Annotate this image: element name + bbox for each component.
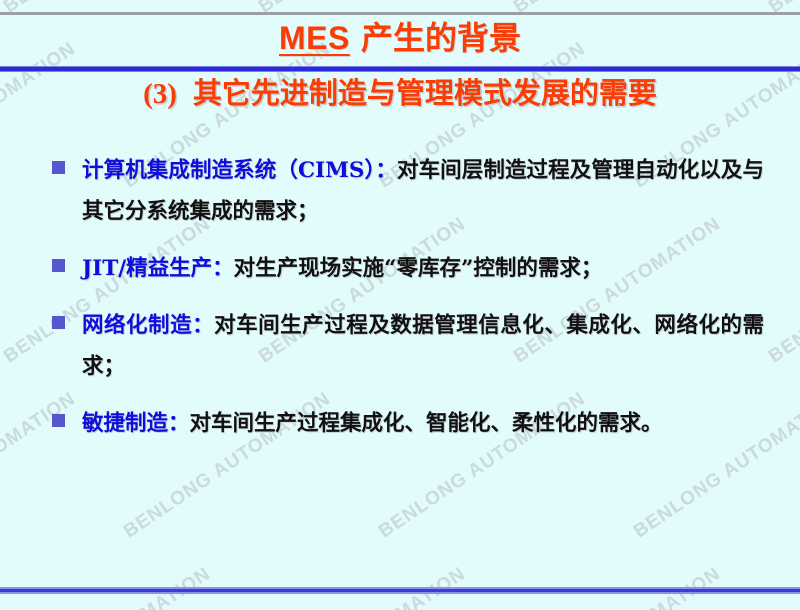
list-item-highlight: JIT/精益生产： bbox=[82, 256, 234, 281]
list-item: JIT/精益生产：对生产现场实施“零库存”控制的需求； bbox=[52, 248, 764, 289]
watermark-text: BENLONG AUTOMATION bbox=[255, 0, 470, 18]
watermark-text: BENLONG AUTOMATION bbox=[765, 213, 800, 368]
list-item-body: 对生产现场实施“零库存”控制的需求； bbox=[234, 256, 603, 281]
list-item-body: 对车间生产过程集成化、智能化、柔性化的需求。 bbox=[190, 411, 663, 436]
bottom-blue-rule bbox=[0, 587, 800, 594]
watermark-text: BENLONG AUTOMATION bbox=[510, 0, 725, 18]
title-block: MES 产生的背景 bbox=[0, 18, 800, 58]
subtitle-number: (3) bbox=[143, 78, 177, 110]
square-bullet-icon bbox=[52, 259, 65, 272]
presentation-slide: BENLONG AUTOMATIONBENLONG AUTOMATIONBENL… bbox=[0, 0, 800, 610]
subtitle-block: (3)其它先进制造与管理模式发展的需要 bbox=[0, 74, 800, 113]
list-item: 敏捷制造：对车间生产过程集成化、智能化、柔性化的需求。 bbox=[52, 403, 764, 444]
bullet-list: 计算机集成制造系统（CIMS）：对车间层制造过程及管理自动化以及与其它分系统集成… bbox=[52, 150, 764, 460]
page-title: MES 产生的背景 bbox=[279, 18, 521, 58]
list-item-text: 敏捷制造：对车间生产过程集成化、智能化、柔性化的需求。 bbox=[82, 403, 764, 444]
square-bullet-icon bbox=[52, 316, 65, 329]
header-blue-rule bbox=[0, 66, 800, 72]
watermark-text: BENLONG AUTOMATION bbox=[0, 0, 215, 18]
square-bullet-icon bbox=[52, 414, 65, 427]
list-item-highlight: 敏捷制造： bbox=[82, 411, 190, 436]
page-title-cn: 产生的背景 bbox=[350, 19, 521, 57]
list-item-text: JIT/精益生产：对生产现场实施“零库存”控制的需求； bbox=[82, 248, 764, 289]
list-item-text: 网络化制造：对车间生产过程及数据管理信息化、集成化、网络化的需求； bbox=[82, 305, 764, 387]
list-item-highlight: 网络化制造： bbox=[82, 313, 214, 338]
page-title-latin: MES bbox=[279, 20, 350, 56]
list-item: 网络化制造：对车间生产过程及数据管理信息化、集成化、网络化的需求； bbox=[52, 305, 764, 387]
top-gray-rule bbox=[0, 12, 800, 15]
square-bullet-icon bbox=[52, 161, 65, 174]
page-subtitle: (3)其它先进制造与管理模式发展的需要 bbox=[143, 74, 657, 113]
list-item: 计算机集成制造系统（CIMS）：对车间层制造过程及管理自动化以及与其它分系统集成… bbox=[52, 150, 764, 232]
list-item-highlight: 计算机集成制造系统（CIMS）： bbox=[82, 158, 397, 183]
watermark-text: BENLONG AUTOMATION bbox=[765, 0, 800, 18]
subtitle-text: 其它先进制造与管理模式发展的需要 bbox=[193, 76, 657, 110]
list-item-text: 计算机集成制造系统（CIMS）：对车间层制造过程及管理自动化以及与其它分系统集成… bbox=[82, 150, 764, 232]
